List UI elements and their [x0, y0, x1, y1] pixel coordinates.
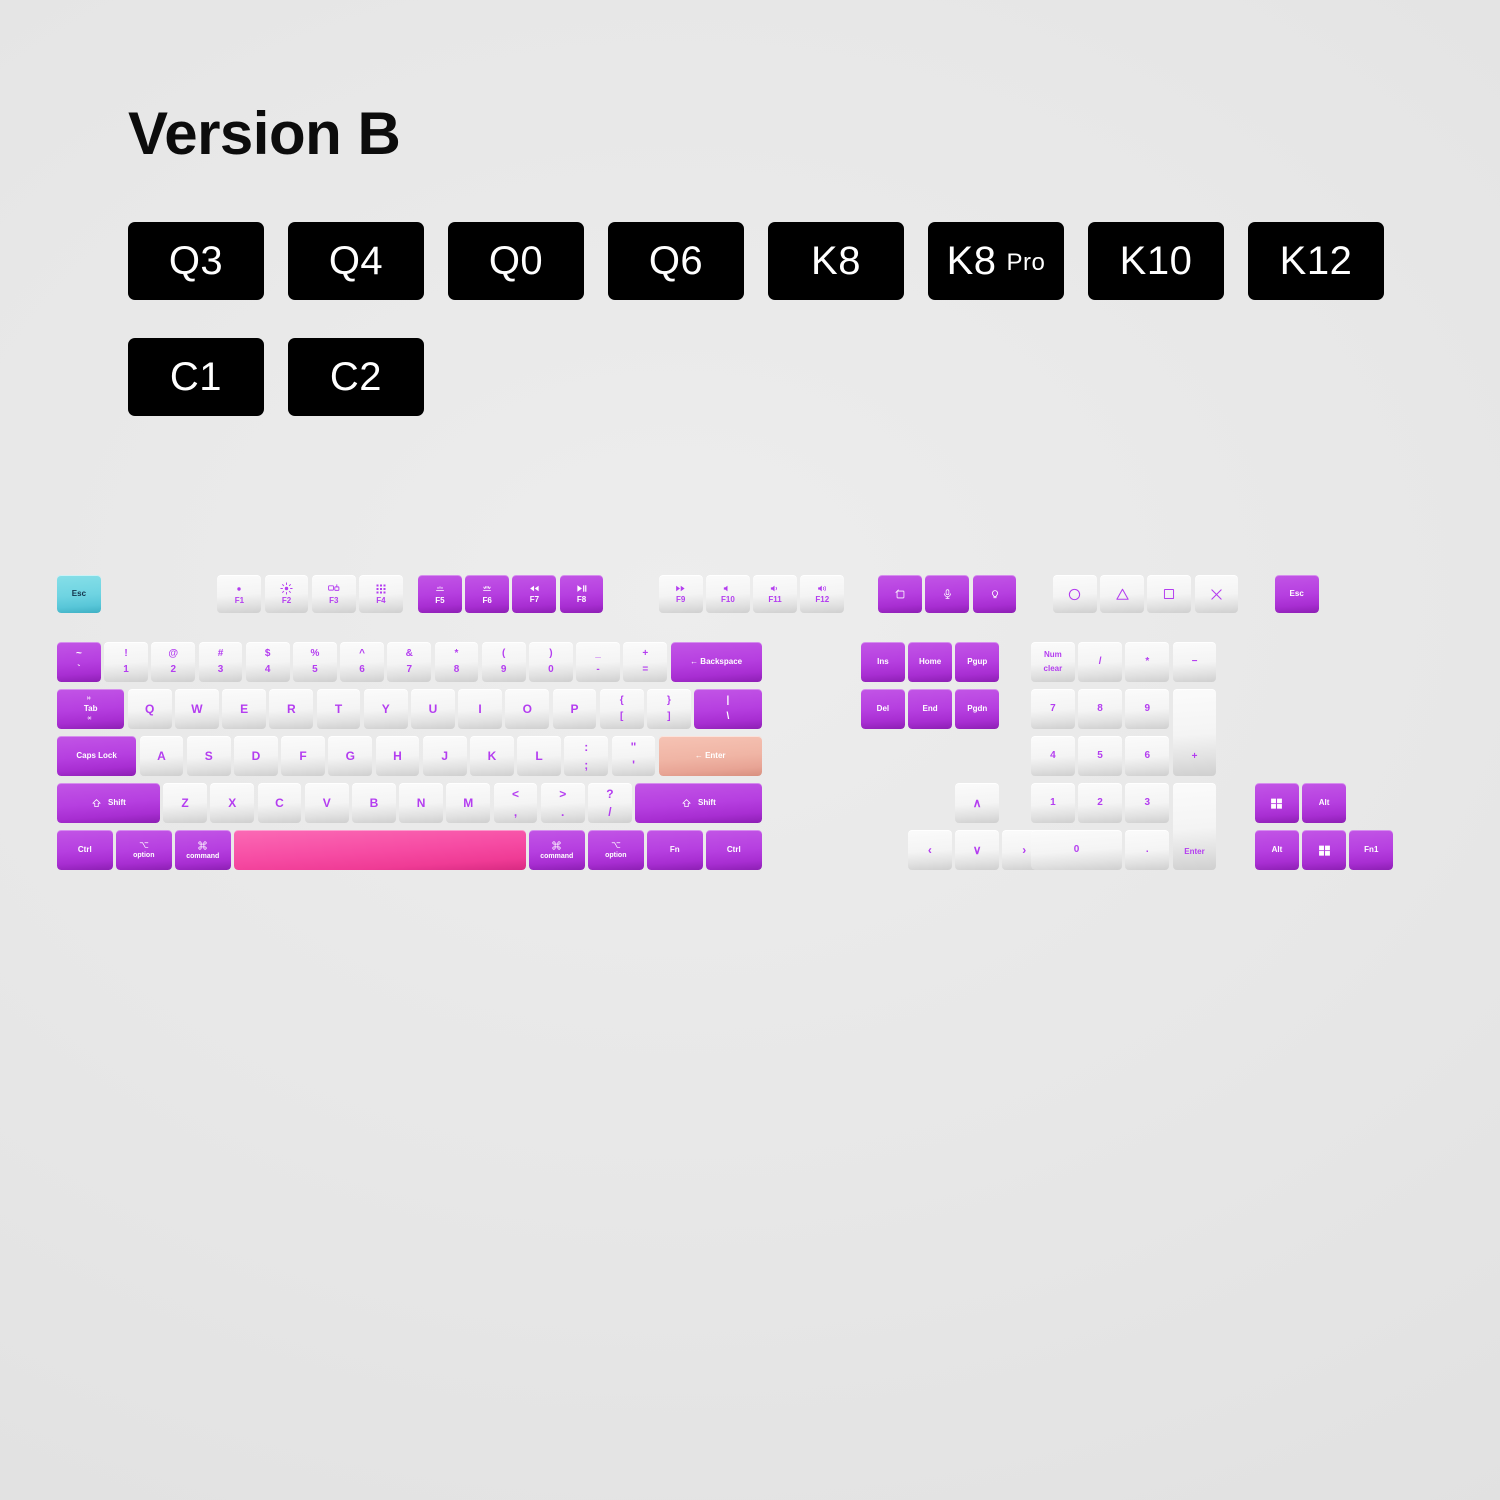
key-e[interactable]: E [222, 689, 266, 729]
key-f1[interactable]: F1 [217, 575, 261, 613]
key-[[interactable]: {[ [600, 689, 644, 729]
key-'[interactable]: "' [612, 736, 656, 776]
keycap-legend: S [187, 750, 231, 763]
key-m[interactable]: M [446, 783, 490, 823]
legend-text: Ctrl [727, 846, 741, 854]
command-icon [551, 840, 562, 851]
legend-secondary: ] [667, 712, 670, 723]
key-grave[interactable]: ~` [57, 642, 101, 682]
key-caps-lock[interactable]: Caps Lock [57, 736, 136, 776]
legend-secondary: ` [77, 665, 80, 676]
key-c[interactable]: C [258, 783, 302, 823]
keycap-legend: F1 [217, 583, 261, 605]
legend-text: Y [382, 703, 390, 716]
key-j[interactable]: J [423, 736, 467, 776]
legend-text: L [535, 750, 542, 763]
key-q[interactable]: Q [128, 689, 172, 729]
legend-primary: @ [168, 649, 178, 660]
legend-text: 7 [1050, 704, 1056, 715]
key-lightbulb[interactable] [973, 575, 1017, 613]
keycap-legend: Ctrl [706, 846, 762, 854]
keycap-legend: Caps Lock [57, 752, 136, 760]
keycap-legend: Ctrl [57, 846, 113, 854]
key-numpad-0[interactable]: 0 [1031, 830, 1122, 870]
key-numpad-plus[interactable]: + [1173, 689, 1217, 776]
key-fn-right[interactable]: Fn [647, 830, 703, 870]
key-end[interactable]: End [908, 689, 952, 729]
keycap-legend: ∧ [955, 797, 999, 810]
cross-icon [1209, 587, 1224, 602]
key-numpad-2[interactable]: 2 [1078, 783, 1122, 823]
key-numpad-4[interactable]: 4 [1031, 736, 1075, 776]
key-2[interactable]: @2 [151, 642, 195, 682]
key-k[interactable]: K [470, 736, 514, 776]
key-f6[interactable]: F6 [465, 575, 509, 613]
key-numpad-3[interactable]: 3 [1125, 783, 1169, 823]
volume-mute-icon [722, 583, 733, 594]
key-8[interactable]: *8 [435, 642, 479, 682]
keycap-legend: Ins [861, 658, 905, 666]
key-f7[interactable]: F7 [512, 575, 556, 613]
legend-text: Ins [877, 658, 889, 666]
legend-text: C [275, 797, 284, 810]
key-fn1-4[interactable]: Fn1 [1349, 830, 1393, 870]
legend-text: 2 [1097, 798, 1103, 809]
arrow-up-key[interactable]: ∧ [955, 783, 999, 823]
square-icon [1162, 587, 1176, 601]
keycap-legend: 3 [1125, 798, 1169, 809]
keycap-legend: G [328, 750, 372, 763]
keycap-legend: _- [576, 649, 620, 675]
key-option-left[interactable]: option [116, 830, 172, 870]
keycap-legend: Home [908, 658, 952, 666]
keycap-legend: $4 [246, 649, 290, 675]
keycap-legend [973, 588, 1017, 600]
key-h[interactable]: H [376, 736, 420, 776]
key-del[interactable]: Del [861, 689, 905, 729]
keycap-legend: + [1173, 689, 1217, 776]
legend-text: 4 [1050, 751, 1056, 762]
legend-text: G [346, 750, 355, 763]
key-b[interactable]: B [352, 783, 396, 823]
keycap-legend: F6 [465, 583, 509, 605]
option-icon [610, 840, 622, 850]
legend-text: › [1022, 844, 1026, 857]
legend-secondary: 9 [501, 665, 507, 676]
microphone-icon [942, 588, 953, 600]
key-x[interactable]: X [210, 783, 254, 823]
key-microphone[interactable] [925, 575, 969, 613]
keycap-legend: 1 [1031, 798, 1075, 809]
legend-primary: " [631, 741, 637, 754]
key-shift-right[interactable]: Shift [635, 783, 761, 823]
legend-primary: ! [124, 649, 127, 660]
key-shift-left[interactable]: Shift [57, 783, 160, 823]
key-numpad-enter[interactable]: Enter [1173, 783, 1217, 870]
key-f2[interactable]: F2 [265, 575, 309, 613]
key-7[interactable]: &7 [387, 642, 431, 682]
key-numpad-minus[interactable]: − [1173, 642, 1217, 682]
key-pgup[interactable]: Pgup [955, 642, 999, 682]
key-command-right[interactable]: command [529, 830, 585, 870]
legend-primary: * [455, 649, 459, 660]
keycap-legend: C [258, 797, 302, 810]
legend-text: + [1192, 752, 1198, 763]
tab-right-arrow-icon [85, 715, 96, 723]
keycap-layout: EscF1F2F3F4F5F6F7F8F9F10F11F12Esc~`!1@2#… [0, 0, 1500, 1500]
key-o[interactable]: O [505, 689, 549, 729]
play-pause-icon [575, 583, 588, 594]
keycap-legend: Numclear [1031, 651, 1075, 673]
key-win-key-bottom[interactable] [1302, 830, 1346, 870]
key-3[interactable]: #3 [199, 642, 243, 682]
keycap-legend: F7 [512, 583, 556, 604]
key-4[interactable]: $4 [246, 642, 290, 682]
legend-text: J [441, 750, 448, 763]
keycap-legend [1302, 844, 1346, 857]
legend-text: F2 [282, 597, 291, 605]
legend-primary: < [512, 788, 519, 801]
next-track-icon [674, 583, 687, 594]
legend-secondary: 4 [265, 665, 271, 676]
keycap-legend: * [1125, 657, 1169, 668]
key-command-left[interactable]: command [175, 830, 231, 870]
legend-secondary: [ [620, 712, 623, 723]
legend-text: M [463, 797, 473, 810]
keycap-legend [1255, 797, 1299, 810]
legend-secondary: 3 [218, 665, 224, 676]
key-f8[interactable]: F8 [560, 575, 604, 613]
key-f4[interactable]: F4 [359, 575, 403, 613]
key-t[interactable]: T [317, 689, 361, 729]
keycap-legend: >. [541, 788, 585, 818]
keycap-legend: %5 [293, 649, 337, 675]
keycap-legend: Pgdn [955, 705, 999, 713]
key-numpad-7[interactable]: 7 [1031, 689, 1075, 729]
legend-text: ∨ [973, 844, 982, 857]
keycap-legend: K [470, 750, 514, 763]
keycap-legend: ← Backspace [671, 658, 762, 666]
key-.[interactable]: >. [541, 783, 585, 823]
keycap-legend [925, 588, 969, 600]
keycap-legend: {[ [600, 696, 644, 722]
key-l[interactable]: L [517, 736, 561, 776]
legend-text: T [335, 703, 342, 716]
keycap-legend: ~` [57, 649, 101, 675]
key-;[interactable]: :; [564, 736, 608, 776]
key-numpad-num-clear[interactable]: Numclear [1031, 642, 1075, 682]
command-icon [197, 840, 208, 851]
legend-text: A [157, 750, 166, 763]
legend-primary: # [218, 649, 224, 660]
keycap-legend: T [317, 703, 361, 716]
brightness-high-icon [280, 582, 293, 595]
keycap-legend: Fn1 [1349, 846, 1393, 854]
keycap-legend: X [210, 797, 254, 810]
keycap-legend: 8 [1078, 704, 1122, 715]
key-ins[interactable]: Ins [861, 642, 905, 682]
keycap-legend: F8 [560, 583, 604, 604]
legend-text: Q [145, 703, 154, 716]
key-ctrl-left[interactable]: Ctrl [57, 830, 113, 870]
key-pgdn[interactable]: Pgdn [955, 689, 999, 729]
legend-text: Shift [698, 799, 716, 807]
key--[interactable]: _- [576, 642, 620, 682]
key-w[interactable]: W [175, 689, 219, 729]
key-6[interactable]: ^6 [340, 642, 384, 682]
key-r[interactable]: R [269, 689, 313, 729]
legend-text: F1 [235, 597, 244, 605]
brightness-low-icon [233, 583, 245, 595]
key-screenshot[interactable] [878, 575, 922, 613]
legend-text: F5 [435, 597, 444, 605]
keycap-legend: M [446, 797, 490, 810]
keycap-legend: F10 [706, 583, 750, 604]
legend-primary: ^ [359, 649, 365, 660]
arrow-left-key[interactable]: ‹ [908, 830, 952, 870]
legend-text: F4 [376, 597, 385, 605]
legend-text: W [191, 703, 202, 716]
keycap-legend [1195, 587, 1239, 602]
legend-primary: $ [265, 649, 271, 660]
keycap-legend: 5 [1078, 751, 1122, 762]
key-v[interactable]: V [305, 783, 349, 823]
shift-up-icon [681, 798, 692, 809]
key-win-key-top[interactable] [1255, 783, 1299, 823]
key-cross[interactable] [1195, 575, 1239, 613]
keycap-legend: 9 [1125, 704, 1169, 715]
key-f5[interactable]: F5 [418, 575, 462, 613]
keycap-legend: Z [163, 797, 207, 810]
legend-text: F7 [530, 596, 539, 604]
keycap-legend [1147, 587, 1191, 601]
legend-secondary: clear [1044, 665, 1063, 673]
legend-text: F8 [577, 596, 586, 604]
key-f[interactable]: F [281, 736, 325, 776]
keycap-legend: End [908, 705, 952, 713]
legend-secondary: ; [584, 759, 588, 772]
keycap-legend: 2 [1078, 798, 1122, 809]
keycap-legend: W [175, 703, 219, 716]
key-1[interactable]: !1 [104, 642, 148, 682]
key-=[interactable]: += [623, 642, 667, 682]
legend-text: Pgdn [967, 705, 987, 713]
keycap-legend: Esc [1275, 590, 1319, 598]
legend-text: Alt [1319, 799, 1330, 807]
volume-up-icon [816, 583, 829, 594]
legend-text: B [370, 797, 379, 810]
legend-text: Home [919, 658, 941, 666]
key-tab[interactable]: Tab [57, 689, 124, 729]
keycap-legend: command [175, 840, 231, 860]
key-u[interactable]: U [411, 689, 455, 729]
key-ctrl-right[interactable]: Ctrl [706, 830, 762, 870]
legend-text: ‹ [928, 844, 932, 857]
keycap-legend: / [1078, 657, 1122, 668]
legend-text: I [478, 703, 481, 716]
keycap-legend: I [458, 703, 502, 716]
keycap-legend: F3 [312, 582, 356, 605]
legend-text: Z [181, 797, 188, 810]
legend-text: command [186, 853, 219, 860]
key-][interactable]: }] [647, 689, 691, 729]
legend-text: O [523, 703, 532, 716]
keycap-legend: J [423, 750, 467, 763]
key-numpad-6[interactable]: 6 [1125, 736, 1169, 776]
triangle-icon [1115, 587, 1130, 602]
key-numpad-asterisk[interactable]: * [1125, 642, 1169, 682]
legend-text: F6 [482, 597, 491, 605]
keycap-legend: H [376, 750, 420, 763]
keycap-legend: &7 [387, 649, 431, 675]
legend-primary: ? [606, 788, 613, 801]
key-numpad-dot[interactable]: . [1125, 830, 1169, 870]
screenshot-icon [895, 589, 906, 600]
key-0[interactable]: )0 [529, 642, 573, 682]
keycap-legend: 0 [1031, 845, 1122, 856]
key-s[interactable]: S [187, 736, 231, 776]
keycap-legend: }] [647, 696, 691, 722]
legend-text: 3 [1145, 798, 1151, 809]
legend-text: E [240, 703, 248, 716]
legend-primary: | [726, 696, 729, 707]
legend-secondary: 8 [454, 665, 460, 676]
key-f10[interactable]: F10 [706, 575, 750, 613]
key-y[interactable]: Y [364, 689, 408, 729]
key-enter[interactable]: ← Enter [659, 736, 762, 776]
backlight-down-icon [433, 583, 447, 595]
key-a[interactable]: A [140, 736, 184, 776]
keycap-legend: (9 [482, 649, 526, 675]
keycap-legend: U [411, 703, 455, 716]
keycap-legend: @2 [151, 649, 195, 675]
key-triangle[interactable] [1100, 575, 1144, 613]
key-spacebar[interactable] [234, 830, 526, 870]
keycap-legend: :; [564, 741, 608, 771]
windows-icon [1318, 844, 1331, 857]
legend-text: Ctrl [78, 846, 92, 854]
key-9[interactable]: (9 [482, 642, 526, 682]
key-g[interactable]: G [328, 736, 372, 776]
legend-text: Pgup [967, 658, 987, 666]
windows-icon [1270, 797, 1283, 810]
key-f11[interactable]: F11 [753, 575, 797, 613]
option-icon [138, 840, 150, 850]
keycap-legend: F [281, 750, 325, 763]
key-f12[interactable]: F12 [800, 575, 844, 613]
keycap-legend: Q [128, 703, 172, 716]
key-f9[interactable]: F9 [659, 575, 703, 613]
key-numpad-9[interactable]: 9 [1125, 689, 1169, 729]
key-i[interactable]: I [458, 689, 502, 729]
legend-secondary: 6 [359, 665, 365, 676]
legend-secondary: ' [632, 759, 635, 772]
legend-text: F12 [815, 596, 829, 604]
keycap-legend: 7 [1031, 704, 1075, 715]
keycap-legend: R [269, 703, 313, 716]
legend-text: F [299, 750, 306, 763]
legend-text: Shift [108, 799, 126, 807]
key-\[interactable]: |\ [694, 689, 761, 729]
keycap-legend: <, [494, 788, 538, 818]
key-esc-left[interactable]: Esc [57, 575, 101, 613]
keycap-legend: |\ [694, 696, 761, 722]
keycap-legend: option [588, 840, 644, 859]
keycap-legend: Tab [57, 695, 124, 723]
keycap-legend: ‹ [908, 844, 952, 857]
arrow-down-key[interactable]: ∨ [955, 830, 999, 870]
key-option-right[interactable]: option [588, 830, 644, 870]
legend-text: D [252, 750, 261, 763]
key-numpad-slash[interactable]: / [1078, 642, 1122, 682]
keycap-legend: F2 [265, 582, 309, 605]
key-alt-2[interactable]: Alt [1255, 830, 1299, 870]
legend-text: Caps Lock [76, 752, 116, 760]
key-numpad-8[interactable]: 8 [1078, 689, 1122, 729]
legend-text: H [393, 750, 402, 763]
key-home[interactable]: Home [908, 642, 952, 682]
legend-text: option [133, 852, 154, 859]
keycap-legend: Alt [1255, 846, 1299, 854]
legend-text: 0 [1074, 845, 1080, 856]
key-/[interactable]: ?/ [588, 783, 632, 823]
legend-primary: } [667, 696, 671, 707]
legend-secondary: 7 [407, 665, 413, 676]
key-alt-1[interactable]: Alt [1302, 783, 1346, 823]
keycap-legend: F12 [800, 583, 844, 604]
legend-primary: & [406, 649, 413, 660]
legend-text: F9 [676, 596, 685, 604]
key-d[interactable]: D [234, 736, 278, 776]
keycap-legend [1100, 587, 1144, 602]
legend-text: Fn1 [1364, 846, 1378, 854]
key-n[interactable]: N [399, 783, 443, 823]
keycap-legend: F5 [418, 583, 462, 605]
keycap-legend: option [116, 840, 172, 859]
keycap-legend: E [222, 703, 266, 716]
keycap-legend: ∨ [955, 844, 999, 857]
legend-text: Fn [670, 846, 680, 854]
legend-secondary: / [608, 806, 611, 819]
key-numpad-5[interactable]: 5 [1078, 736, 1122, 776]
keycap-legend: 6 [1125, 751, 1169, 762]
key-circle[interactable] [1053, 575, 1097, 613]
keycap-legend: Pgup [955, 658, 999, 666]
legend-text: Del [877, 705, 889, 713]
legend-primary: > [559, 788, 566, 801]
key-z[interactable]: Z [163, 783, 207, 823]
key-square[interactable] [1147, 575, 1191, 613]
key-f3[interactable]: F3 [312, 575, 356, 613]
legend-text: / [1099, 657, 1102, 668]
keycap-legend: Y [364, 703, 408, 716]
key-p[interactable]: P [553, 689, 597, 729]
legend-text: . [1146, 845, 1149, 856]
legend-text: 5 [1097, 751, 1103, 762]
circle-icon [1067, 587, 1082, 602]
legend-text: Tab [84, 705, 98, 713]
key-backspace[interactable]: ← Backspace [671, 642, 762, 682]
legend-text: ∧ [973, 797, 982, 810]
keycap-set-product-image: Version B Q3Q4Q0Q6K8K8ProK10K12 C1C2 Esc… [0, 0, 1500, 1500]
keycap-legend: N [399, 797, 443, 810]
key-esc-right[interactable]: Esc [1275, 575, 1319, 613]
legend-text: S [205, 750, 213, 763]
legend-secondary: 5 [312, 665, 318, 676]
key-numpad-1[interactable]: 1 [1031, 783, 1075, 823]
key-5[interactable]: %5 [293, 642, 337, 682]
key-,[interactable]: <, [494, 783, 538, 823]
